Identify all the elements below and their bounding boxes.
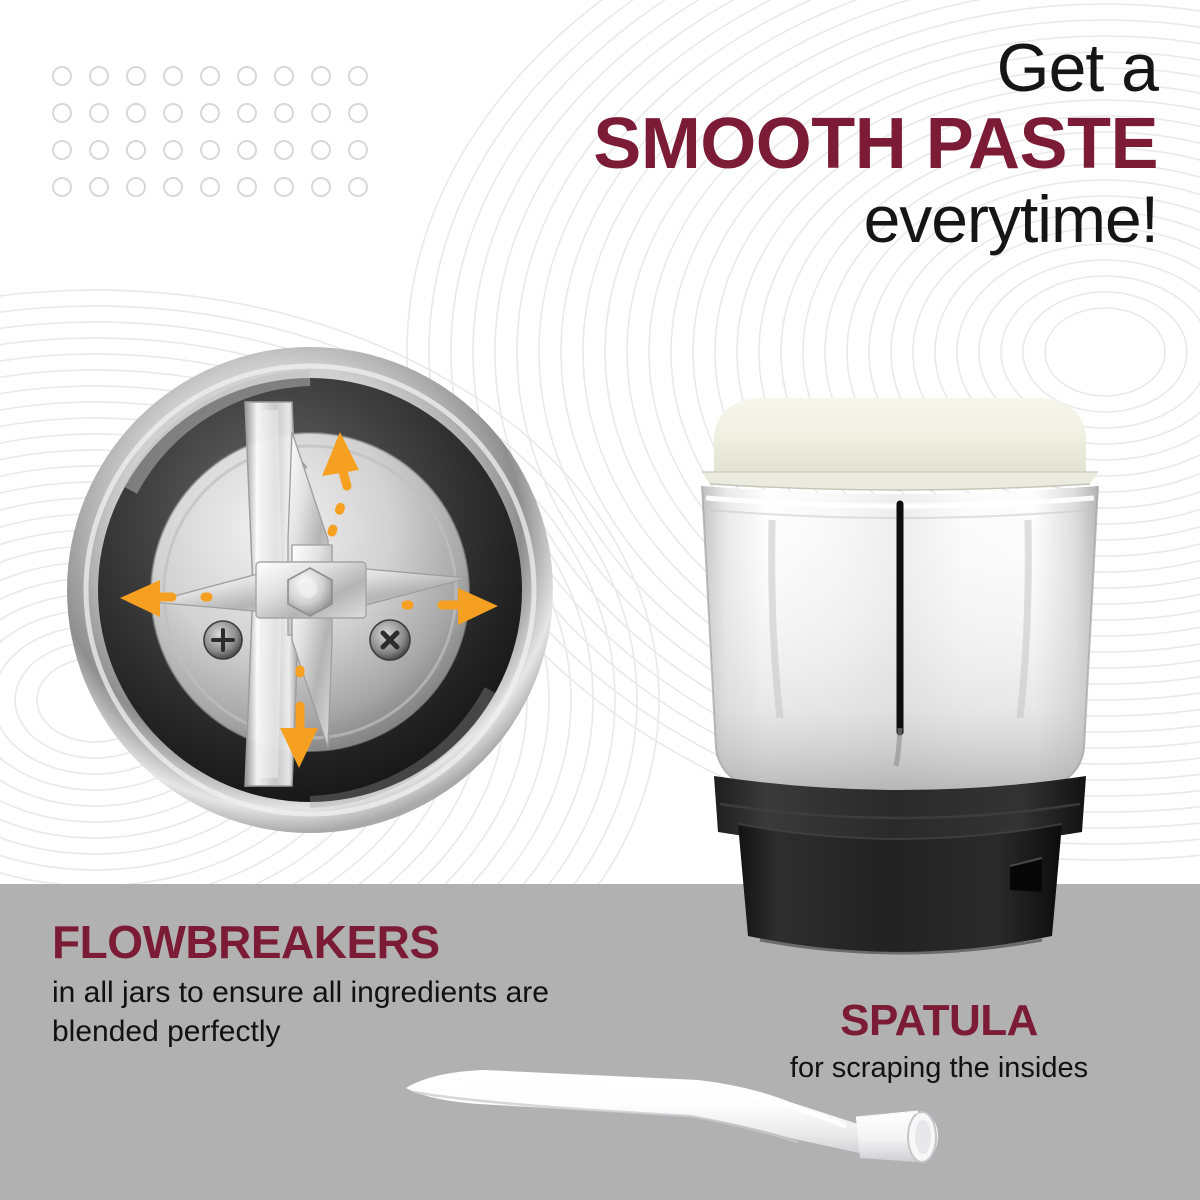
grid-dot: [348, 140, 368, 160]
grid-dot: [237, 140, 257, 160]
grid-dot: [200, 140, 220, 160]
grid-dot: [52, 177, 72, 197]
jar-base: [738, 824, 1062, 953]
grid-dot: [126, 177, 146, 197]
flowbreakers-subtitle: in all jars to ensure all ingredients ar…: [52, 974, 652, 1051]
grid-dot: [348, 177, 368, 197]
jar-body: [702, 486, 1098, 803]
phillips-screw-right: [370, 620, 410, 660]
flowbreakers-title: FLOWBREAKERS: [52, 918, 652, 966]
grid-dot: [200, 66, 220, 86]
grid-dot: [89, 177, 109, 197]
mixer-grinder-jar-image: [680, 380, 1120, 970]
grid-dot: [311, 177, 331, 197]
decorative-dot-grid: [52, 66, 385, 214]
grid-dot: [348, 66, 368, 86]
phillips-screw-left: [204, 621, 242, 659]
grid-dot: [237, 66, 257, 86]
jar-interior-top-view-image: [60, 340, 560, 840]
grid-dot: [311, 66, 331, 86]
grid-dot: [200, 177, 220, 197]
feature-spatula: SPATULA for scraping the insides: [724, 998, 1154, 1087]
spatula-subtitle: for scraping the insides: [724, 1050, 1154, 1087]
grid-dot: [274, 66, 294, 86]
headline-line-2: SMOOTH PASTE: [593, 108, 1158, 180]
grid-dot: [89, 103, 109, 123]
grid-dot: [274, 177, 294, 197]
grid-dot: [126, 66, 146, 86]
grid-dot: [163, 103, 183, 123]
jar-lid: [702, 398, 1098, 490]
grid-dot: [311, 103, 331, 123]
grid-dot: [89, 140, 109, 160]
headline-line-3: everytime!: [593, 186, 1158, 252]
grid-dot: [52, 140, 72, 160]
grid-dot: [348, 103, 368, 123]
grid-dot: [163, 66, 183, 86]
grid-dot: [163, 177, 183, 197]
product-feature-banner: Get a SMOOTH PASTE everytime!: [0, 0, 1200, 1200]
spatula-end-cap: [856, 1112, 938, 1162]
grid-dot: [237, 177, 257, 197]
grid-dot: [274, 103, 294, 123]
grid-dot: [89, 66, 109, 86]
grid-dot: [274, 140, 294, 160]
grid-dot: [52, 103, 72, 123]
grid-dot: [311, 140, 331, 160]
spatula-title: SPATULA: [724, 998, 1154, 1044]
grid-dot: [52, 66, 72, 86]
grid-dot: [126, 103, 146, 123]
grid-dot: [237, 103, 257, 123]
headline: Get a SMOOTH PASTE everytime!: [593, 34, 1158, 252]
headline-line-1: Get a: [593, 34, 1158, 102]
grid-dot: [126, 140, 146, 160]
grid-dot: [163, 140, 183, 160]
grid-dot: [200, 103, 220, 123]
feature-flowbreakers: FLOWBREAKERS in all jars to ensure all i…: [52, 918, 652, 1051]
